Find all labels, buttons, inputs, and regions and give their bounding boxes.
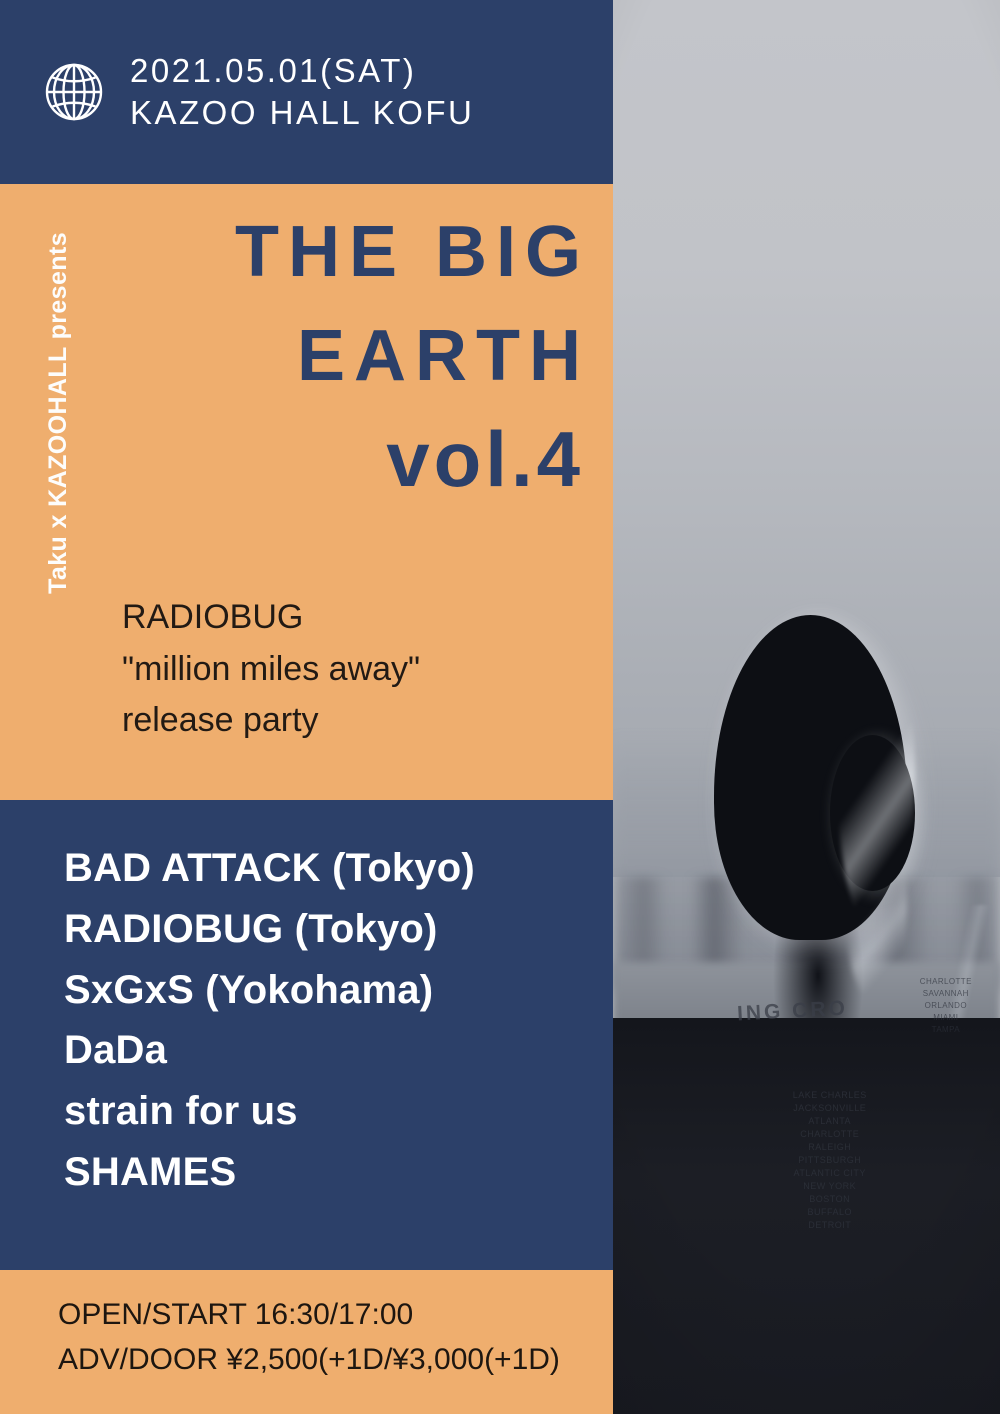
- lineup-list: BAD ATTACK (Tokyo) RADIOBUG (Tokyo) SxGx…: [64, 838, 594, 1203]
- lineup-item: SxGxS (Yokohama): [64, 960, 594, 1021]
- ticket-prices: ADV/DOOR ¥2,500(+1D/¥3,000(+1D): [58, 1337, 608, 1382]
- event-poster: ING CRO LAKE CHARLES JACKSONVILLE ATLANT…: [0, 0, 1000, 1414]
- lineup-item: DaDa: [64, 1020, 594, 1081]
- lineup-item: RADIOBUG (Tokyo): [64, 899, 594, 960]
- title-line-2: EARTH: [110, 304, 590, 408]
- photo-panel: ING CRO LAKE CHARLES JACKSONVILLE ATLANT…: [613, 0, 1000, 1414]
- header-text-block: 2021.05.01(SAT) KAZOO HALL KOFU: [130, 50, 474, 134]
- footer-info: OPEN/START 16:30/17:00 ADV/DOOR ¥2,500(+…: [58, 1292, 608, 1382]
- subtitle-line-3: release party: [122, 695, 592, 747]
- event-venue: KAZOO HALL KOFU: [130, 92, 474, 134]
- lineup-item: strain for us: [64, 1081, 594, 1142]
- lineup-item: BAD ATTACK (Tokyo): [64, 838, 594, 899]
- title-line-3: vol.4: [110, 409, 590, 510]
- header-band: 2021.05.01(SAT) KAZOO HALL KOFU: [0, 0, 613, 184]
- lineup-item: SHAMES: [64, 1142, 594, 1203]
- subtitle-line-2: "million miles away": [122, 644, 592, 696]
- globe-icon: [42, 60, 106, 124]
- event-subtitle: RADIOBUG "million miles away" release pa…: [122, 592, 592, 747]
- presenter-credit: Taku x KAZOOHALL presents: [44, 232, 73, 594]
- photo-vignette: [613, 0, 1000, 1414]
- title-line-1: THE BIG: [110, 200, 590, 304]
- subtitle-line-1: RADIOBUG: [122, 592, 592, 644]
- event-date: 2021.05.01(SAT): [130, 50, 474, 92]
- open-start-times: OPEN/START 16:30/17:00: [58, 1292, 608, 1337]
- event-title: THE BIG EARTH vol.4: [110, 200, 590, 510]
